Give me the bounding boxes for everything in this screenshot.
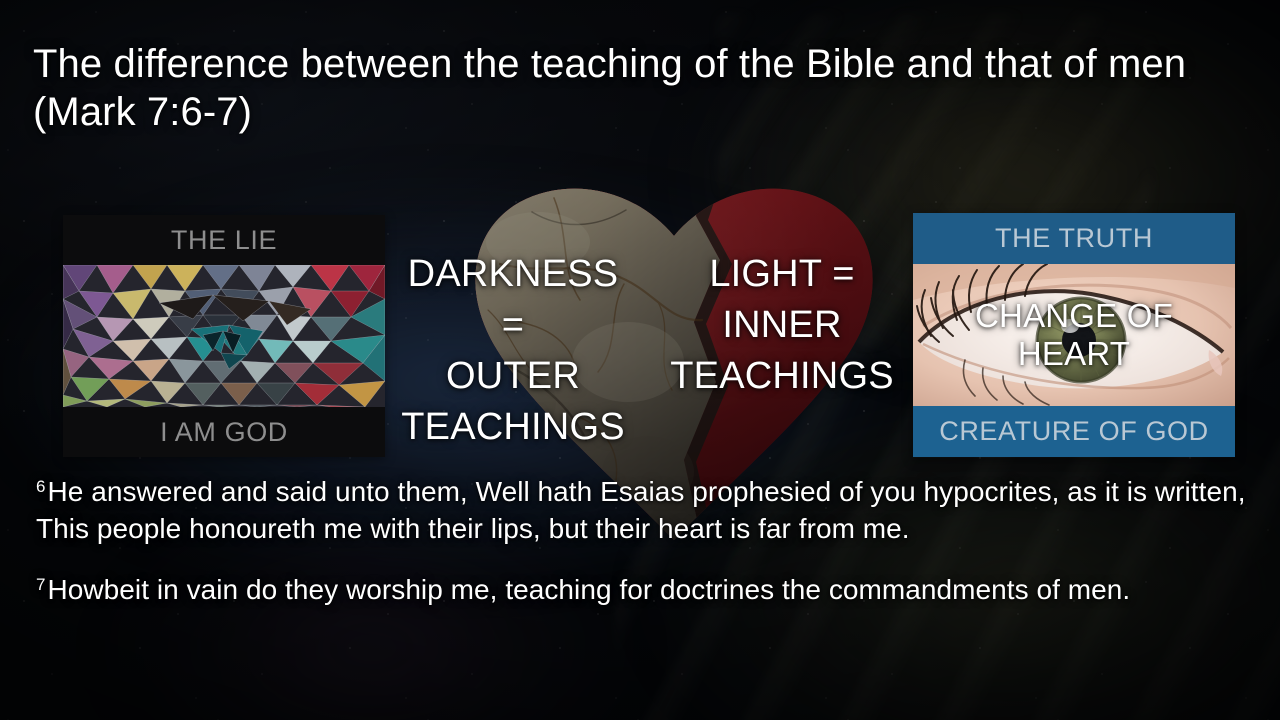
- presentation-slide: The difference between the teaching of t…: [0, 0, 1280, 720]
- scripture-block: 6He answered and said unto them, Well ha…: [36, 468, 1251, 608]
- the-lie-footer-label: I AM GOD: [160, 417, 288, 448]
- light-label: LIGHT = INNER TEACHINGS: [669, 249, 895, 402]
- the-lie-footer: I AM GOD: [63, 407, 385, 457]
- the-truth-panel: THE TRUTH: [913, 213, 1235, 458]
- the-truth-footer: CREATURE OF GOD: [913, 406, 1235, 457]
- the-truth-header: THE TRUTH: [913, 213, 1235, 264]
- verse-7-number: 7: [36, 575, 46, 594]
- darkness-label: DARKNESS = OUTER TEACHINGS: [397, 249, 629, 453]
- the-lie-panel: THE LIE: [63, 215, 385, 457]
- verse-7-text: Howbeit in vain do they worship me, teac…: [48, 574, 1131, 605]
- human-eye-photograph: CHANGE OF HEART: [913, 264, 1235, 406]
- the-truth-footer-label: CREATURE OF GOD: [939, 416, 1209, 447]
- verse-6-text: He answered and said unto them, Well hat…: [36, 476, 1246, 544]
- the-truth-header-label: THE TRUTH: [995, 223, 1153, 254]
- verse-7: 7Howbeit in vain do they worship me, tea…: [36, 566, 1251, 608]
- the-lie-header: THE LIE: [63, 215, 385, 265]
- verse-6-number: 6: [36, 477, 46, 496]
- low-poly-rainbow-eye-image: [63, 265, 385, 407]
- slide-title: The difference between the teaching of t…: [33, 40, 1268, 136]
- verse-6: 6He answered and said unto them, Well ha…: [36, 468, 1251, 547]
- the-lie-header-label: THE LIE: [171, 225, 277, 256]
